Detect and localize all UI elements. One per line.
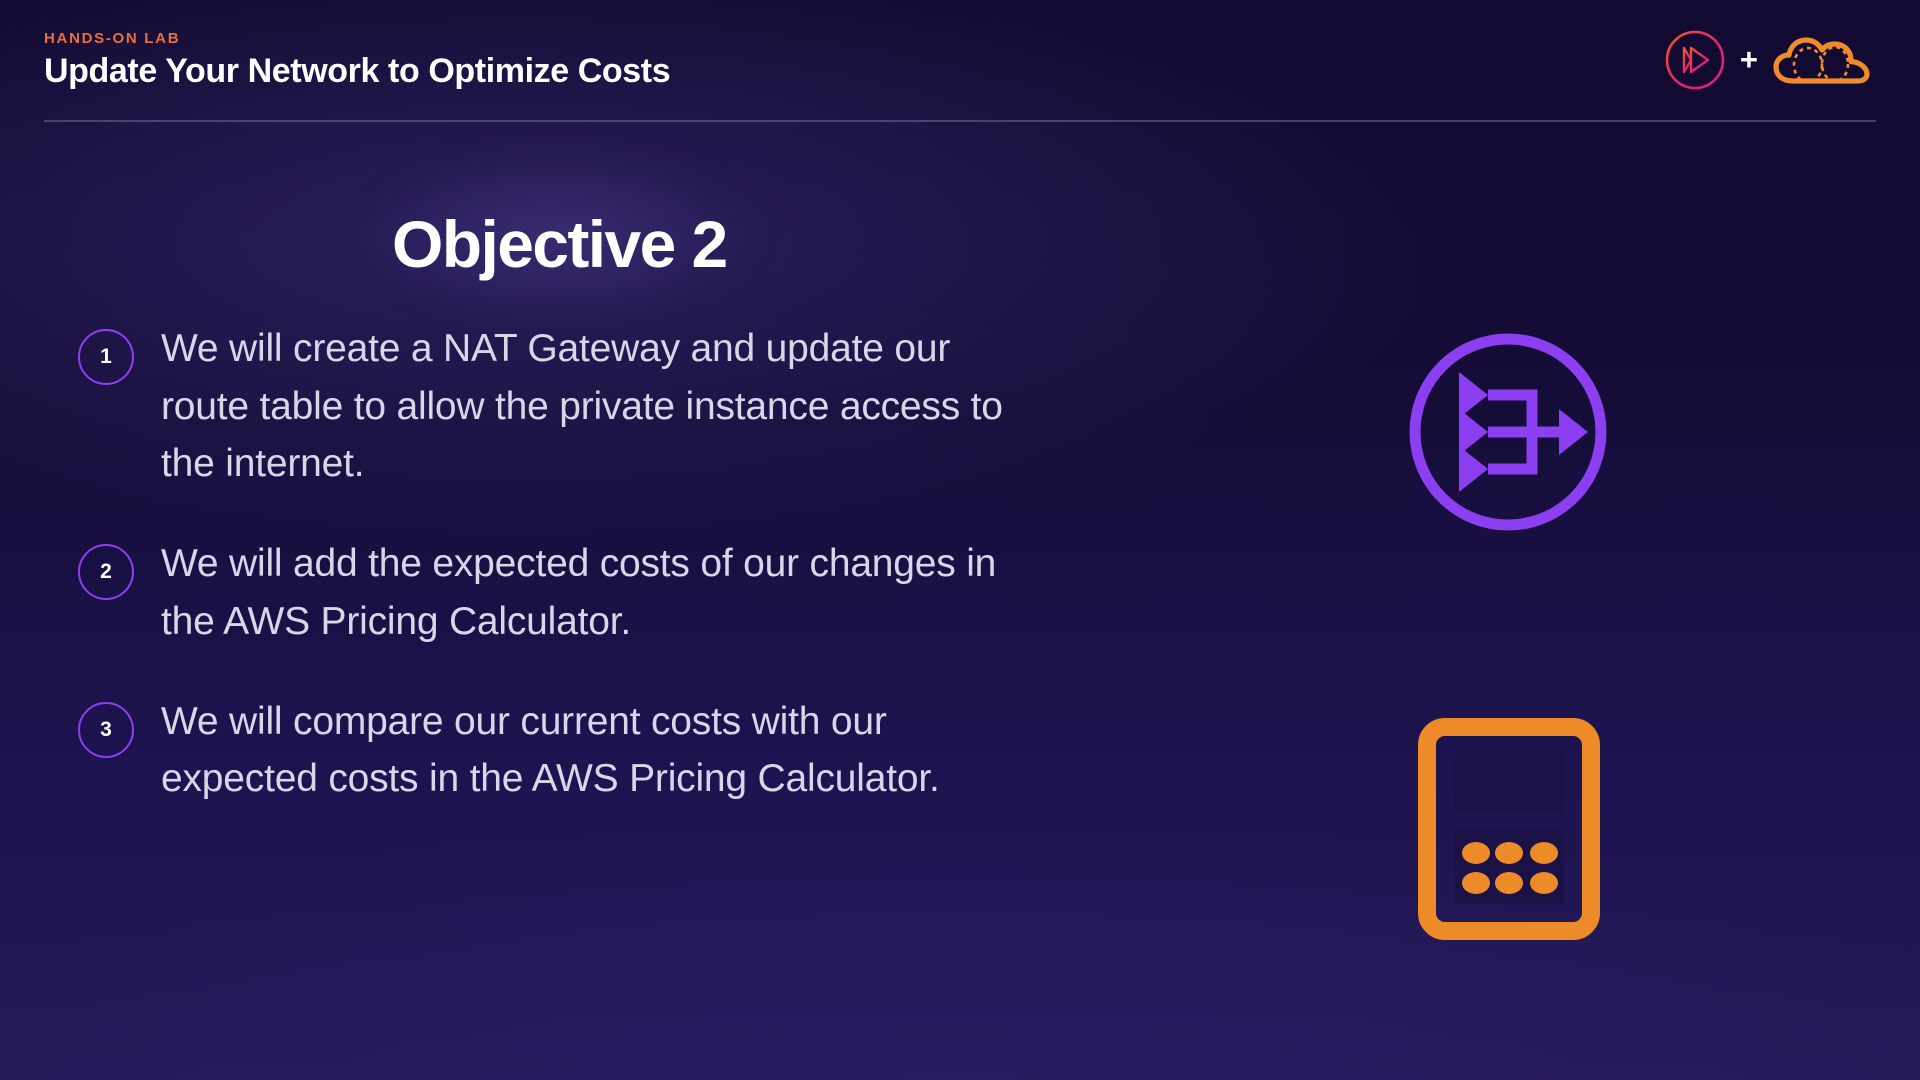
step-text: We will compare our current costs with o… [161,693,1041,808]
list-item: 2 We will add the expected costs of our … [78,535,1188,650]
calculator-icon [1418,718,1600,940]
header-logo-group: + [1664,29,1876,91]
slide-header: HANDS-ON LAB Update Your Network to Opti… [0,0,1920,120]
nat-gateway-icon [1404,328,1612,536]
slide-title: Objective 2 [392,206,727,282]
step-number-badge: 1 [78,329,134,385]
step-number-badge: 2 [78,544,134,600]
list-item: 1 We will create a NAT Gateway and updat… [78,320,1188,493]
lab-eyebrow-label: HANDS-ON LAB [44,30,670,47]
lab-title: Update Your Network to Optimize Costs [44,52,670,91]
step-text: We will create a NAT Gateway and update … [161,320,1041,493]
plus-separator: + [1740,44,1758,75]
step-text: We will add the expected costs of our ch… [161,535,1041,650]
acloudguru-logo-icon [1664,29,1726,91]
list-item: 3 We will compare our current costs with… [78,693,1188,808]
header-divider [44,120,1876,122]
objectives-list: 1 We will create a NAT Gateway and updat… [78,320,1188,808]
slide-body: Objective 2 1 We will create a NAT Gatew… [0,120,1920,1080]
step-number-badge: 3 [78,702,134,758]
header-title-group: HANDS-ON LAB Update Your Network to Opti… [44,30,670,91]
pluralsight-cloud-logo-icon [1772,29,1876,91]
